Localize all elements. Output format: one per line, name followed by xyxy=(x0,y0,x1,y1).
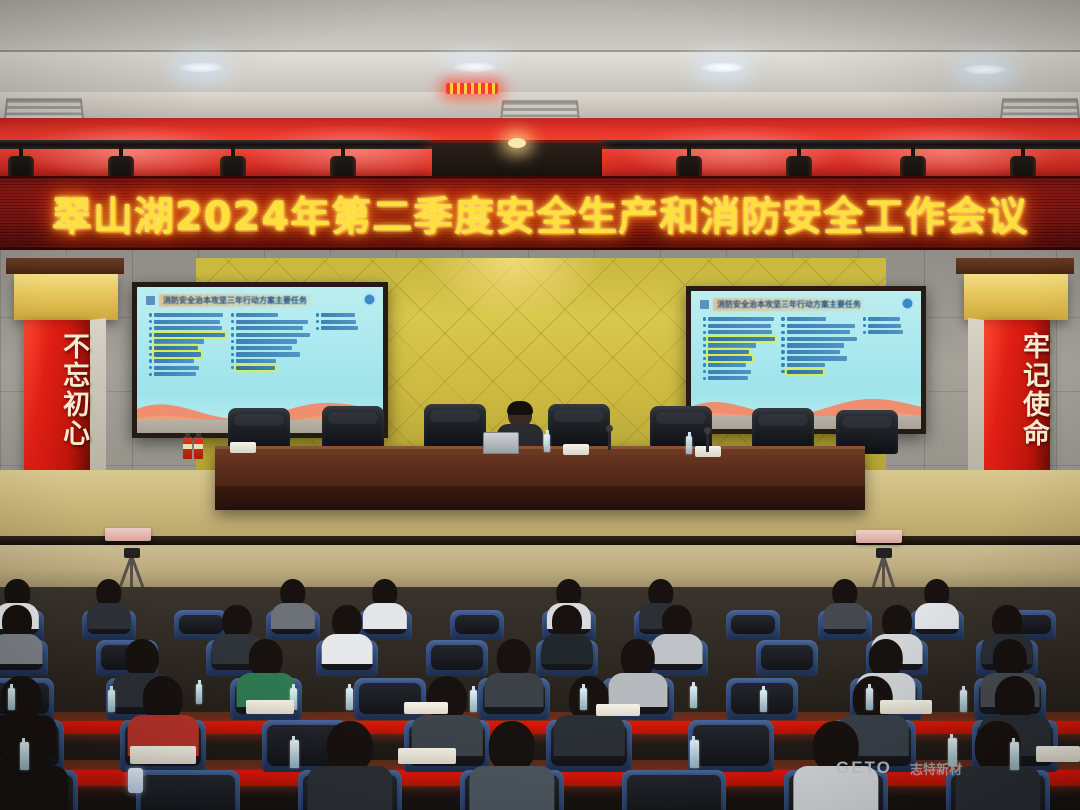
bullet-dot-icon xyxy=(703,317,706,320)
audience-body xyxy=(87,603,131,629)
slide-logo-icon xyxy=(363,293,376,306)
slide-bullet xyxy=(149,339,225,343)
bullet-dot-icon xyxy=(863,324,866,327)
water-bottle xyxy=(20,742,29,770)
bullet-dot-icon xyxy=(703,350,706,353)
seat-cushion xyxy=(455,615,499,634)
bullet-dot-icon xyxy=(231,320,234,323)
canopy-beam-right xyxy=(956,258,1074,274)
slide-bullet xyxy=(231,359,310,363)
bullet-text-line xyxy=(708,343,755,347)
microphone xyxy=(608,430,611,450)
slide-bullet xyxy=(231,352,310,356)
fire-extinguisher xyxy=(194,437,203,459)
head-table xyxy=(215,446,865,510)
audience-member xyxy=(239,639,294,699)
bullet-text-line xyxy=(708,363,746,367)
audience-member xyxy=(0,605,41,657)
bullet-dot-icon xyxy=(149,373,152,376)
audience-seat[interactable] xyxy=(726,610,780,640)
bullet-text-line xyxy=(868,324,901,328)
ceiling-downlight xyxy=(962,64,1008,75)
bullet-text-line xyxy=(787,330,851,334)
bullet-dot-icon xyxy=(149,333,152,336)
bullet-dot-icon xyxy=(316,313,319,316)
projector-right xyxy=(856,530,902,543)
slide-title-row: 消防安全治本攻坚三年行动方案主要任务 xyxy=(146,294,374,307)
head-table-chair xyxy=(322,406,384,450)
audience-member xyxy=(130,676,195,746)
bullet-text-line xyxy=(787,350,840,354)
bullet-text-line xyxy=(708,370,751,374)
audience-head xyxy=(249,639,284,677)
audience-head xyxy=(125,639,160,677)
bullet-dot-icon xyxy=(231,340,234,343)
bullet-dot-icon xyxy=(781,350,784,353)
slide-column-1 xyxy=(149,313,225,376)
laptop[interactable] xyxy=(483,432,519,454)
water-bottle xyxy=(1010,742,1019,770)
slide-bullet-highlighted xyxy=(149,333,225,337)
bullet-text-line xyxy=(154,359,194,363)
head-table-skirt xyxy=(215,486,865,510)
conference-hall-scene: 翠山湖2024年第二季度安全生产和消防安全工作会议 不忘初心 牢记使命 消防安全… xyxy=(0,0,1080,810)
slide-bullet-highlighted xyxy=(149,352,225,356)
bullet-text-line xyxy=(154,326,221,330)
bullet-dot-icon xyxy=(149,313,152,316)
bullet-text-line xyxy=(787,324,855,328)
slide-column-2 xyxy=(231,313,310,376)
slide-title-text: 消防安全治本攻坚三年行动方案主要任务 xyxy=(713,298,865,311)
presenter-hair xyxy=(507,401,533,415)
audience-body xyxy=(0,766,69,810)
bullet-dot-icon xyxy=(231,313,234,316)
ceiling-downlight xyxy=(700,62,746,73)
seat-cushion xyxy=(693,725,769,766)
bullet-text-line xyxy=(236,339,297,343)
slide-title-row: 消防安全治本攻坚三年行动方案主要任务 xyxy=(700,298,912,311)
seat-cushion xyxy=(761,645,813,670)
water-bottle xyxy=(290,740,299,768)
audience-body xyxy=(469,766,554,810)
seat-cushion xyxy=(431,645,483,670)
slide-bullet xyxy=(149,326,225,330)
bullet-dot-icon xyxy=(781,357,784,360)
slide-bullet xyxy=(231,313,310,317)
slide-bullet xyxy=(316,313,375,317)
audience-body xyxy=(915,603,959,629)
bullet-dot-icon xyxy=(863,317,866,320)
bullet-dot-icon xyxy=(781,317,784,320)
slide-bullet-highlighted xyxy=(781,370,856,374)
bullet-dot-icon xyxy=(231,366,234,369)
bullet-text-line xyxy=(321,326,358,330)
slide-logo-icon xyxy=(901,297,914,310)
audience-body xyxy=(542,634,593,664)
slide-bullet xyxy=(231,326,310,330)
water-bottle xyxy=(580,688,587,710)
bullet-text-line xyxy=(868,330,903,334)
bullet-dot-icon xyxy=(149,320,152,323)
seat-cushion xyxy=(731,615,775,634)
emergency-exit-light xyxy=(446,83,498,94)
slide-bullet xyxy=(781,363,856,367)
head-table-chair xyxy=(650,406,712,450)
slide-bullet xyxy=(781,343,856,347)
bullet-text-line xyxy=(154,352,200,356)
bullet-dot-icon xyxy=(316,320,319,323)
audience-body xyxy=(484,673,543,708)
bullet-text-line xyxy=(708,324,770,328)
slide-bullet xyxy=(231,333,310,337)
head-table-chair xyxy=(424,404,486,448)
slide-title-text: 消防安全治本攻坚三年行动方案主要任务 xyxy=(159,294,311,307)
audience-body xyxy=(554,715,625,756)
slide-bullet xyxy=(149,366,225,370)
audience-member xyxy=(472,721,551,802)
bullet-text-line xyxy=(321,313,355,317)
bullet-dot-icon xyxy=(781,344,784,347)
bullet-text-line xyxy=(708,356,752,360)
gold-canopy-right xyxy=(964,274,1068,320)
water-bottle xyxy=(960,690,967,712)
bullet-text-line xyxy=(154,320,220,324)
canopy-beam-left xyxy=(6,258,124,274)
water-bottle xyxy=(196,684,202,704)
bullet-text-line xyxy=(236,366,274,370)
audience-head xyxy=(497,639,532,677)
audience-body xyxy=(307,766,392,810)
ceiling xyxy=(0,0,1080,118)
audience-body xyxy=(0,634,42,664)
smartphone[interactable] xyxy=(128,768,143,793)
audience-member xyxy=(543,605,590,657)
audience-member xyxy=(824,579,865,623)
document-paper xyxy=(404,702,448,714)
ceiling-band-upper xyxy=(0,0,1080,52)
slide-bullet xyxy=(149,320,225,324)
bullet-dot-icon xyxy=(703,377,706,380)
led-banner-text: 翠山湖2024年第二季度安全生产和消防安全工作会议 xyxy=(52,184,1028,242)
ceiling-downlight xyxy=(452,62,498,73)
microphone xyxy=(706,432,709,452)
audience-head xyxy=(427,676,468,721)
bullet-dot-icon xyxy=(781,331,784,334)
bullet-dot-icon xyxy=(781,363,784,366)
bullet-dot-icon xyxy=(231,346,234,349)
slide-bullet xyxy=(149,359,225,363)
audience-member xyxy=(364,579,405,623)
bullet-text-line xyxy=(787,343,845,347)
slide-column-3 xyxy=(863,317,913,380)
audience-seat[interactable] xyxy=(756,640,818,676)
bullet-dot-icon xyxy=(781,337,784,340)
bullet-text-line xyxy=(236,333,310,337)
bullet-text-line xyxy=(236,359,276,363)
geto-brand-text: GETO xyxy=(836,758,892,778)
bullet-text-line xyxy=(236,326,303,330)
bullet-dot-icon xyxy=(149,346,152,349)
audience-member xyxy=(323,605,370,657)
water-bottle xyxy=(108,690,115,712)
bullet-dot-icon xyxy=(703,363,706,366)
water-bottle xyxy=(686,436,692,454)
bullet-dot-icon xyxy=(781,324,784,327)
slide-bullet xyxy=(781,350,856,354)
bullet-text-line xyxy=(708,350,749,354)
slide-bullet xyxy=(231,346,310,350)
slide-bullet-highlighted xyxy=(703,350,775,354)
water-bottle xyxy=(346,688,353,710)
bullet-dot-icon xyxy=(703,344,706,347)
water-bottle xyxy=(866,688,873,710)
slide-title-marker xyxy=(146,296,155,305)
audience-head xyxy=(1,676,42,721)
slide-column-2 xyxy=(781,317,856,380)
audience-head xyxy=(621,639,656,677)
bullet-dot-icon xyxy=(703,331,706,334)
audience-member xyxy=(88,579,129,623)
bullet-dot-icon xyxy=(149,327,152,330)
bullet-text-line xyxy=(154,313,223,317)
ceiling-band-lower xyxy=(0,52,1080,92)
slide-bullet xyxy=(703,330,775,334)
slide-bullet-highlighted xyxy=(231,366,310,370)
document-paper xyxy=(880,700,932,714)
audience-body xyxy=(823,603,867,629)
tissue-box xyxy=(230,442,256,453)
audience-member xyxy=(272,579,313,623)
slide-bullet xyxy=(863,324,913,328)
right-pillar-text: 牢记使命 xyxy=(984,332,1050,448)
audience-head xyxy=(327,721,374,772)
ceiling-downlight xyxy=(178,62,224,73)
bullet-text-line xyxy=(321,320,356,324)
bullet-text-line xyxy=(787,337,857,341)
left-pillar-text: 不忘初心 xyxy=(24,332,90,448)
bullet-dot-icon xyxy=(703,370,706,373)
slide-bullet xyxy=(703,376,775,380)
bullet-text-line xyxy=(708,317,773,321)
slide-bullet-columns xyxy=(149,313,375,376)
slide-bullet xyxy=(863,317,913,321)
water-bottle xyxy=(690,740,699,768)
water-bottle xyxy=(470,690,477,712)
bullet-text-line xyxy=(708,337,775,341)
audience-head xyxy=(993,639,1028,677)
led-banner: 翠山湖2024年第二季度安全生产和消防安全工作会议 xyxy=(0,176,1080,250)
bullet-text-line xyxy=(868,317,900,321)
slide-column-1 xyxy=(703,317,775,380)
bullet-text-line xyxy=(708,376,748,380)
slide-bullet xyxy=(703,363,775,367)
audience-seat[interactable] xyxy=(688,720,774,772)
water-bottle xyxy=(544,434,550,452)
bullet-text-line xyxy=(787,370,823,374)
audience-head xyxy=(995,676,1036,721)
water-bottle xyxy=(760,690,767,712)
stage-edge xyxy=(0,536,1080,545)
bullet-dot-icon xyxy=(149,359,152,362)
bullet-text-line xyxy=(154,346,197,350)
bullet-dot-icon xyxy=(703,337,706,340)
bullet-dot-icon xyxy=(149,340,152,343)
bullet-dot-icon xyxy=(863,331,866,334)
bullet-dot-icon xyxy=(703,357,706,360)
fire-extinguisher xyxy=(183,437,192,459)
audience-body xyxy=(271,603,315,629)
audience-body xyxy=(322,634,373,664)
slide-bullet xyxy=(703,317,775,321)
bullet-text-line xyxy=(236,320,308,324)
bullet-dot-icon xyxy=(703,324,706,327)
bullet-dot-icon xyxy=(781,370,784,373)
slide-column-3 xyxy=(316,313,375,376)
tissue-box xyxy=(563,444,589,455)
slide-bullet xyxy=(863,330,913,334)
audience-member xyxy=(487,639,542,699)
projector-left xyxy=(105,528,151,541)
document-paper xyxy=(596,704,640,716)
document-paper xyxy=(130,746,196,764)
slide-bullet xyxy=(703,343,775,347)
bullet-dot-icon xyxy=(231,333,234,336)
bullet-dot-icon xyxy=(316,327,319,330)
water-bottle xyxy=(690,686,697,708)
bullet-text-line xyxy=(154,339,204,343)
slide-bullet xyxy=(231,339,310,343)
slide-bullet-highlighted xyxy=(703,356,775,360)
slide-bullet xyxy=(781,324,856,328)
bullet-text-line xyxy=(787,317,827,321)
slide-bullet xyxy=(316,320,375,324)
head-table-chair xyxy=(548,404,610,448)
document-paper xyxy=(1036,746,1080,762)
document-paper xyxy=(246,700,294,714)
slide-bullet xyxy=(781,330,856,334)
bullet-text-line xyxy=(236,313,278,317)
bullet-dot-icon xyxy=(231,353,234,356)
audience-seat[interactable] xyxy=(136,770,240,810)
audience-head xyxy=(869,639,904,677)
bullet-text-line xyxy=(236,346,292,350)
gold-canopy-left xyxy=(14,274,118,320)
bullet-text-line xyxy=(236,352,300,356)
audience-seat[interactable] xyxy=(450,610,504,640)
document-paper xyxy=(398,748,456,764)
geto-brand-subtext: 志特新材 xyxy=(910,759,962,778)
bullet-dot-icon xyxy=(149,366,152,369)
slide-bullet-columns xyxy=(703,317,913,380)
audience-head xyxy=(489,721,536,772)
seat-cushion xyxy=(627,775,721,810)
bullet-text-line xyxy=(787,356,848,360)
slide-bullet-highlighted xyxy=(703,337,775,341)
bullet-text-line xyxy=(154,333,224,337)
slide-bullet xyxy=(781,356,856,360)
bullet-dot-icon xyxy=(231,327,234,330)
bullet-dot-icon xyxy=(231,359,234,362)
slide-bullet xyxy=(703,324,775,328)
slide-bullet xyxy=(231,320,310,324)
seat-cushion xyxy=(141,775,235,810)
slide-bullet xyxy=(149,313,225,317)
slide-bullet xyxy=(781,337,856,341)
bullet-dot-icon xyxy=(149,353,152,356)
slide-title-marker xyxy=(700,300,709,309)
slide-bullet-highlighted xyxy=(149,346,225,350)
audience-head xyxy=(143,676,184,721)
bullet-text-line xyxy=(787,363,825,367)
audience-seat[interactable] xyxy=(622,770,726,810)
slide-bullet xyxy=(703,370,775,374)
water-bottle xyxy=(8,688,15,710)
bullet-text-line xyxy=(154,366,199,370)
slide-bullet xyxy=(316,326,375,330)
slide-bullet xyxy=(149,372,225,376)
bullet-text-line xyxy=(154,372,196,376)
bullet-text-line xyxy=(708,330,772,334)
audience-member xyxy=(916,579,957,623)
audience-member xyxy=(310,721,389,802)
audience-seat[interactable] xyxy=(426,640,488,676)
audience-member xyxy=(0,721,66,802)
slide-bullet xyxy=(781,317,856,321)
